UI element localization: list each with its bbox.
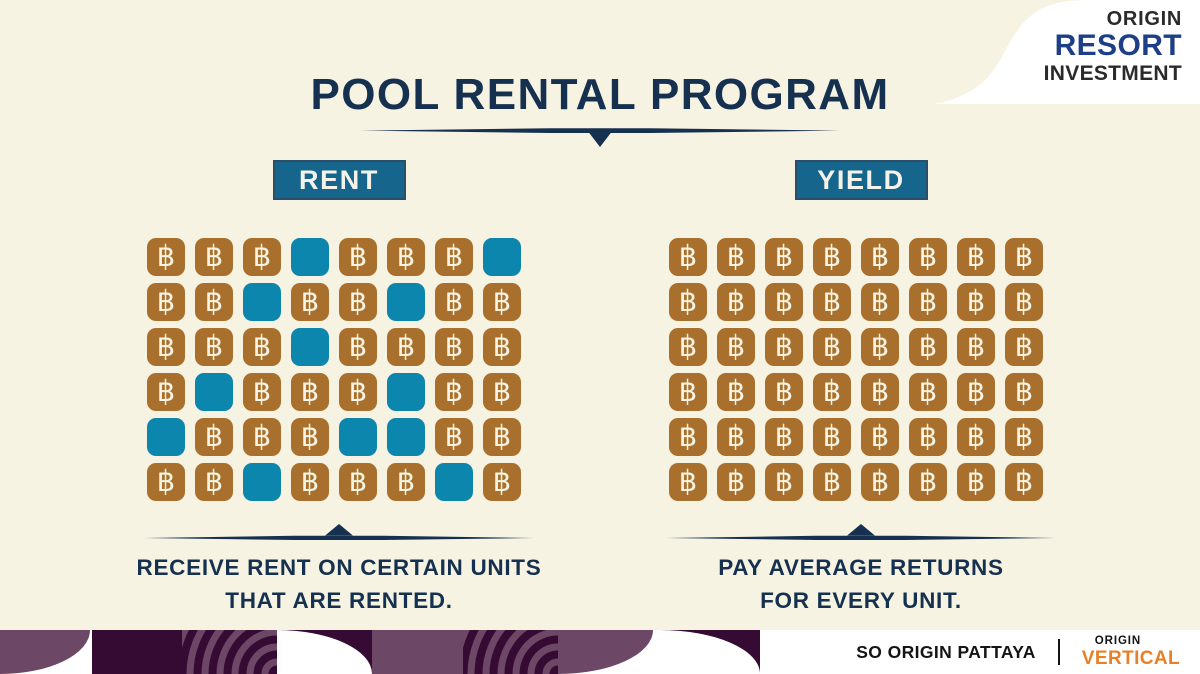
baht-glyph: ฿ [349,333,367,362]
thai-baht-icon: ฿ [717,238,755,276]
thai-baht-icon: ฿ [957,373,995,411]
thai-baht-icon: ฿ [243,373,281,411]
footer-branding: SO ORIGIN PATTAYA ORIGIN VERTICAL [856,630,1180,674]
thai-baht-icon: ฿ [957,328,995,366]
thai-baht-icon: ฿ [435,238,473,276]
thai-baht-icon: ฿ [861,238,899,276]
caption-yield: PAY AVERAGE RETURNS FOR EVERY UNIT. [626,552,1096,617]
baht-glyph: ฿ [205,288,223,317]
baht-glyph: ฿ [205,468,223,497]
thai-baht-icon: ฿ [339,328,377,366]
thai-baht-icon: ฿ [813,463,851,501]
baht-glyph: ฿ [775,468,793,497]
baht-glyph: ฿ [445,423,463,452]
thai-baht-icon: ฿ [243,418,281,456]
baht-glyph: ฿ [823,468,841,497]
thai-baht-icon: ฿ [291,238,329,276]
thai-baht-icon: ฿ [765,418,803,456]
thai-baht-icon: ฿ [339,283,377,321]
baht-glyph: ฿ [823,288,841,317]
caption-rent: RECEIVE RENT ON CERTAIN UNITS THAT ARE R… [104,552,574,617]
baht-glyph: ฿ [253,423,271,452]
baht-glyph: ฿ [205,333,223,362]
thai-baht-icon: ฿ [147,418,185,456]
thai-baht-icon: ฿ [483,238,521,276]
baht-glyph: ฿ [493,423,511,452]
thai-baht-icon: ฿ [813,418,851,456]
baht-glyph: ฿ [205,423,223,452]
baht-glyph: ฿ [1015,243,1033,272]
caption-rent-line-1: RECEIVE RENT ON CERTAIN UNITS [104,552,574,585]
baht-glyph: ฿ [397,333,415,362]
thai-baht-icon: ฿ [861,328,899,366]
footer-project-name: SO ORIGIN PATTAYA [856,642,1036,663]
thai-baht-icon: ฿ [1005,373,1043,411]
baht-glyph: ฿ [445,333,463,362]
thai-baht-icon: ฿ [861,463,899,501]
thai-baht-icon: ฿ [387,238,425,276]
thai-baht-icon: ฿ [909,418,947,456]
baht-glyph: ฿ [967,468,985,497]
baht-glyph: ฿ [349,288,367,317]
thai-baht-icon: ฿ [765,463,803,501]
thai-baht-icon: ฿ [147,283,185,321]
baht-glyph: ฿ [349,243,367,272]
thai-baht-icon: ฿ [243,463,281,501]
thai-baht-icon: ฿ [339,418,377,456]
baht-glyph: ฿ [727,243,745,272]
baht-glyph: ฿ [919,243,937,272]
baht-glyph: ฿ [727,468,745,497]
baht-glyph: ฿ [253,333,271,362]
slide-canvas: ORIGIN RESORT INVESTMENT POOL RENTAL PRO… [0,0,1200,674]
thai-baht-icon: ฿ [147,238,185,276]
thai-baht-icon: ฿ [909,463,947,501]
thai-baht-icon: ฿ [813,238,851,276]
brand-line-origin: ORIGIN [1044,9,1182,29]
baht-glyph: ฿ [775,333,793,362]
baht-glyph: ฿ [967,243,985,272]
baht-glyph: ฿ [919,333,937,362]
thai-baht-icon: ฿ [765,238,803,276]
icon-grid-yield: ฿฿฿฿฿฿฿฿฿฿฿฿฿฿฿฿฿฿฿฿฿฿฿฿฿฿฿฿฿฿฿฿฿฿฿฿฿฿฿฿… [669,238,1053,508]
thai-baht-icon: ฿ [291,283,329,321]
baht-glyph: ฿ [679,378,697,407]
baht-glyph: ฿ [253,243,271,272]
baht-glyph: ฿ [919,423,937,452]
thai-baht-icon: ฿ [957,418,995,456]
baht-glyph: ฿ [823,333,841,362]
thai-baht-icon: ฿ [717,463,755,501]
thai-baht-icon: ฿ [909,283,947,321]
slide-footer: SO ORIGIN PATTAYA ORIGIN VERTICAL [0,630,1200,674]
badge-yield[interactable]: YIELD [795,160,928,200]
caption-divider-up-arrow-icon-rent [144,524,534,546]
baht-glyph: ฿ [727,378,745,407]
thai-baht-icon: ฿ [717,373,755,411]
thai-baht-icon: ฿ [339,373,377,411]
thai-baht-icon: ฿ [291,463,329,501]
baht-glyph: ฿ [775,423,793,452]
thai-baht-icon: ฿ [669,283,707,321]
brand-line-resort: RESORT [1044,31,1182,61]
baht-glyph: ฿ [823,423,841,452]
thai-baht-icon: ฿ [195,373,233,411]
baht-glyph: ฿ [679,288,697,317]
caption-divider-up-arrow-icon-yield [666,524,1056,546]
thai-baht-icon: ฿ [339,238,377,276]
baht-glyph: ฿ [157,288,175,317]
baht-glyph: ฿ [445,378,463,407]
thai-baht-icon: ฿ [765,373,803,411]
thai-baht-icon: ฿ [861,418,899,456]
baht-glyph: ฿ [1015,468,1033,497]
thai-baht-icon: ฿ [435,328,473,366]
baht-glyph: ฿ [301,378,319,407]
baht-glyph: ฿ [397,243,415,272]
baht-glyph: ฿ [397,468,415,497]
baht-glyph: ฿ [871,333,889,362]
thai-baht-icon: ฿ [717,283,755,321]
thai-baht-icon: ฿ [909,373,947,411]
thai-baht-icon: ฿ [669,328,707,366]
thai-baht-icon: ฿ [957,463,995,501]
thai-baht-icon: ฿ [291,418,329,456]
thai-baht-icon: ฿ [957,238,995,276]
thai-baht-icon: ฿ [1005,328,1043,366]
caption-rent-line-2: THAT ARE RENTED. [104,585,574,618]
thai-baht-icon: ฿ [717,328,755,366]
column-rent: RENT ฿฿฿฿฿฿฿฿฿฿฿฿฿฿฿฿฿฿฿฿฿฿฿฿฿฿฿฿฿฿฿฿฿฿฿… [104,160,574,617]
baht-glyph: ฿ [967,423,985,452]
baht-glyph: ฿ [157,378,175,407]
thai-baht-icon: ฿ [1005,418,1043,456]
baht-glyph: ฿ [871,468,889,497]
thai-baht-icon: ฿ [861,283,899,321]
thai-baht-icon: ฿ [243,283,281,321]
baht-glyph: ฿ [823,378,841,407]
thai-baht-icon: ฿ [765,283,803,321]
baht-glyph: ฿ [493,468,511,497]
baht-glyph: ฿ [349,468,367,497]
thai-baht-icon: ฿ [147,328,185,366]
thai-baht-icon: ฿ [1005,463,1043,501]
thai-baht-icon: ฿ [243,328,281,366]
baht-glyph: ฿ [823,243,841,272]
baht-glyph: ฿ [445,288,463,317]
baht-glyph: ฿ [919,288,937,317]
baht-glyph: ฿ [871,423,889,452]
baht-glyph: ฿ [253,378,271,407]
thai-baht-icon: ฿ [387,328,425,366]
thai-baht-icon: ฿ [483,373,521,411]
thai-baht-icon: ฿ [813,283,851,321]
caption-yield-line-2: FOR EVERY UNIT. [626,585,1096,618]
thai-baht-icon: ฿ [195,328,233,366]
baht-glyph: ฿ [1015,378,1033,407]
thai-baht-icon: ฿ [291,328,329,366]
thai-baht-icon: ฿ [195,283,233,321]
baht-glyph: ฿ [727,288,745,317]
thai-baht-icon: ฿ [483,463,521,501]
baht-glyph: ฿ [1015,423,1033,452]
thai-baht-icon: ฿ [813,328,851,366]
baht-glyph: ฿ [157,243,175,272]
baht-glyph: ฿ [493,288,511,317]
baht-glyph: ฿ [679,468,697,497]
thai-baht-icon: ฿ [483,283,521,321]
footer-vertical-line-1: ORIGIN [1095,636,1180,648]
footer-origin-vertical-logo: ORIGIN VERTICAL [1082,636,1180,668]
baht-glyph: ฿ [493,378,511,407]
baht-glyph: ฿ [727,423,745,452]
thai-baht-icon: ฿ [435,373,473,411]
thai-baht-icon: ฿ [435,418,473,456]
baht-glyph: ฿ [871,243,889,272]
baht-glyph: ฿ [967,333,985,362]
thai-baht-icon: ฿ [291,373,329,411]
thai-baht-icon: ฿ [957,283,995,321]
thai-baht-icon: ฿ [483,418,521,456]
thai-baht-icon: ฿ [669,463,707,501]
footer-divider [1058,639,1060,665]
thai-baht-icon: ฿ [339,463,377,501]
baht-glyph: ฿ [301,288,319,317]
baht-glyph: ฿ [775,288,793,317]
baht-glyph: ฿ [445,243,463,272]
baht-glyph: ฿ [679,243,697,272]
baht-glyph: ฿ [157,333,175,362]
baht-glyph: ฿ [871,288,889,317]
thai-baht-icon: ฿ [435,463,473,501]
thai-baht-icon: ฿ [147,373,185,411]
thai-baht-icon: ฿ [243,238,281,276]
title-divider-down-arrow-icon [360,126,840,150]
thai-baht-icon: ฿ [669,418,707,456]
thai-baht-icon: ฿ [669,238,707,276]
baht-glyph: ฿ [1015,288,1033,317]
baht-glyph: ฿ [679,423,697,452]
thai-baht-icon: ฿ [387,373,425,411]
footer-decorative-pattern [0,630,760,674]
baht-glyph: ฿ [919,468,937,497]
thai-baht-icon: ฿ [195,463,233,501]
baht-glyph: ฿ [727,333,745,362]
baht-glyph: ฿ [301,468,319,497]
thai-baht-icon: ฿ [765,328,803,366]
baht-glyph: ฿ [775,243,793,272]
thai-baht-icon: ฿ [813,373,851,411]
thai-baht-icon: ฿ [147,463,185,501]
thai-baht-icon: ฿ [669,373,707,411]
baht-glyph: ฿ [349,378,367,407]
baht-glyph: ฿ [967,288,985,317]
caption-yield-line-1: PAY AVERAGE RETURNS [626,552,1096,585]
thai-baht-icon: ฿ [909,238,947,276]
brand-logo-panel: ORIGIN RESORT INVESTMENT [932,0,1200,104]
thai-baht-icon: ฿ [387,418,425,456]
thai-baht-icon: ฿ [861,373,899,411]
baht-glyph: ฿ [967,378,985,407]
thai-baht-icon: ฿ [483,328,521,366]
thai-baht-icon: ฿ [909,328,947,366]
column-yield: YIELD ฿฿฿฿฿฿฿฿฿฿฿฿฿฿฿฿฿฿฿฿฿฿฿฿฿฿฿฿฿฿฿฿฿฿… [626,160,1096,617]
baht-glyph: ฿ [919,378,937,407]
baht-glyph: ฿ [871,378,889,407]
baht-glyph: ฿ [493,333,511,362]
thai-baht-icon: ฿ [387,463,425,501]
icon-grid-rent: ฿฿฿฿฿฿฿฿฿฿฿฿฿฿฿฿฿฿฿฿฿฿฿฿฿฿฿฿฿฿฿฿฿฿฿฿฿฿฿฿… [147,238,531,508]
baht-glyph: ฿ [1015,333,1033,362]
thai-baht-icon: ฿ [717,418,755,456]
brand-logo-text: ORIGIN RESORT INVESTMENT [1044,9,1182,84]
thai-baht-icon: ฿ [1005,283,1043,321]
thai-baht-icon: ฿ [387,283,425,321]
baht-glyph: ฿ [679,333,697,362]
baht-glyph: ฿ [205,243,223,272]
baht-glyph: ฿ [301,423,319,452]
thai-baht-icon: ฿ [435,283,473,321]
badge-rent[interactable]: RENT [273,160,406,200]
thai-baht-icon: ฿ [195,418,233,456]
brand-line-investment: INVESTMENT [1044,63,1182,84]
baht-glyph: ฿ [775,378,793,407]
thai-baht-icon: ฿ [195,238,233,276]
footer-vertical-line-2: VERTICAL [1082,649,1180,668]
thai-baht-icon: ฿ [1005,238,1043,276]
baht-glyph: ฿ [157,468,175,497]
